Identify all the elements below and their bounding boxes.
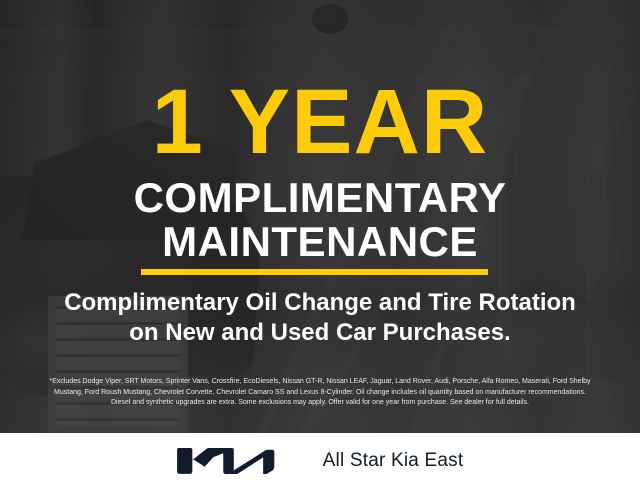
promo-line-2: on New and Used Car Purchases.	[0, 318, 640, 348]
hero-section: 1 YEAR COMPLIMENTARY MAINTENANCE Complim…	[0, 0, 640, 433]
disclaimer-line-1: *Excludes Dodge Viper, SRT Motors, Sprin…	[12, 377, 628, 388]
disclaimer-line-2: Mustang, Ford Roush Mustang, Chevrolet C…	[12, 388, 628, 399]
headline-secondary-maintenance: MAINTENANCE	[0, 220, 640, 264]
legal-disclaimer: *Excludes Dodge Viper, SRT Motors, Sprin…	[12, 377, 628, 409]
kia-logo-icon	[177, 448, 285, 474]
footer-bar: All Star Kia East	[0, 433, 640, 488]
promo-line-1: Complimentary Oil Change and Tire Rotati…	[0, 288, 640, 318]
yellow-divider-rule	[141, 269, 488, 275]
disclaimer-line-3: Diesel and synthetic upgrades are extra.…	[12, 398, 628, 409]
headline-secondary-complimentary: COMPLIMENTARY	[0, 176, 640, 220]
headline-primary: 1 YEAR	[0, 76, 640, 168]
headline-block: 1 YEAR COMPLIMENTARY MAINTENANCE Complim…	[0, 0, 640, 433]
promotional-banner: 1 YEAR COMPLIMENTARY MAINTENANCE Complim…	[0, 0, 640, 488]
dealer-name-label: All Star Kia East	[323, 450, 464, 472]
promo-description: Complimentary Oil Change and Tire Rotati…	[0, 288, 640, 348]
